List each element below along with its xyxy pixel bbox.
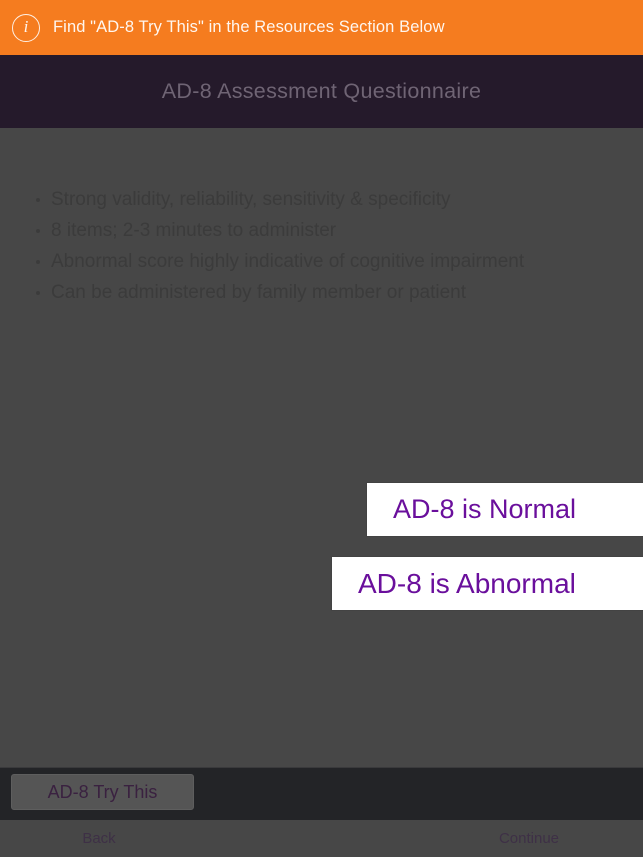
- app-root: i Find "AD-8 Try This" in the Resources …: [0, 0, 643, 857]
- list-item: Abnormal score highly indicative of cogn…: [36, 246, 524, 277]
- resources-bar: AD-8 Try This: [0, 767, 643, 820]
- ad8-abnormal-button[interactable]: AD-8 is Abnormal: [332, 557, 643, 610]
- list-item: Strong validity, reliability, sensitivit…: [36, 184, 524, 215]
- main-content: Strong validity, reliability, sensitivit…: [0, 128, 643, 767]
- back-button[interactable]: Back: [0, 830, 198, 847]
- ad8-normal-button[interactable]: AD-8 is Normal: [367, 483, 643, 536]
- info-banner-text: Find "AD-8 Try This" in the Resources Se…: [53, 18, 445, 37]
- continue-button[interactable]: Continue: [430, 830, 628, 847]
- list-item: Can be administered by family member or …: [36, 277, 524, 308]
- ad8-try-this-button[interactable]: AD-8 Try This: [11, 774, 194, 810]
- list-item: 8 items; 2-3 minutes to administer: [36, 215, 524, 246]
- info-banner: i Find "AD-8 Try This" in the Resources …: [0, 0, 643, 55]
- page-title: AD-8 Assessment Questionnaire: [162, 79, 481, 104]
- info-circle-icon: i: [12, 14, 40, 42]
- bottom-navigation-bar: Back Continue: [0, 820, 643, 857]
- feature-bullet-list: Strong validity, reliability, sensitivit…: [36, 184, 524, 308]
- info-icon-glyph: i: [24, 18, 29, 35]
- header-bar: AD-8 Assessment Questionnaire: [0, 55, 643, 128]
